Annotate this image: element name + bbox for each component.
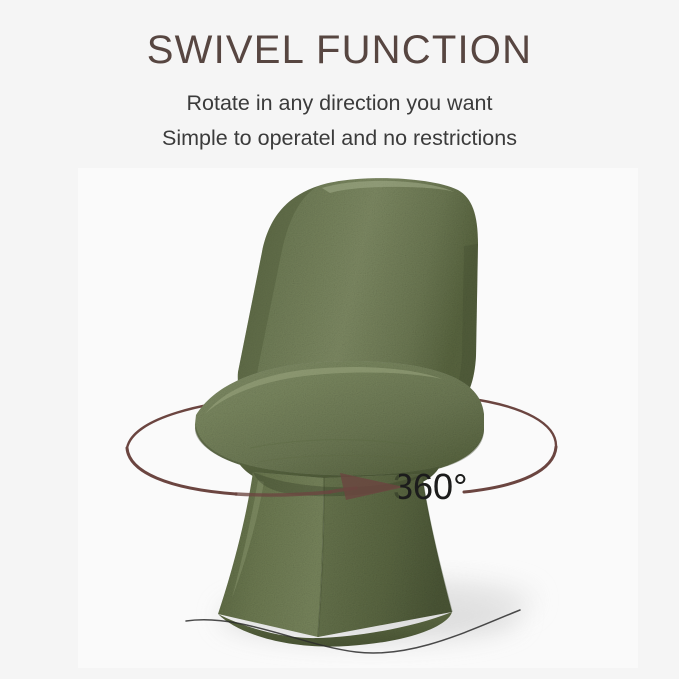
rotation-degree-text: 360° xyxy=(393,466,467,507)
rotation-degree-label: 360° 360° xyxy=(393,466,467,507)
chair-body xyxy=(195,178,484,646)
product-scene: 360° 360° xyxy=(0,0,679,679)
swivel-function-marketing-image: SWIVEL FUNCTION Rotate in any direction … xyxy=(0,0,679,679)
